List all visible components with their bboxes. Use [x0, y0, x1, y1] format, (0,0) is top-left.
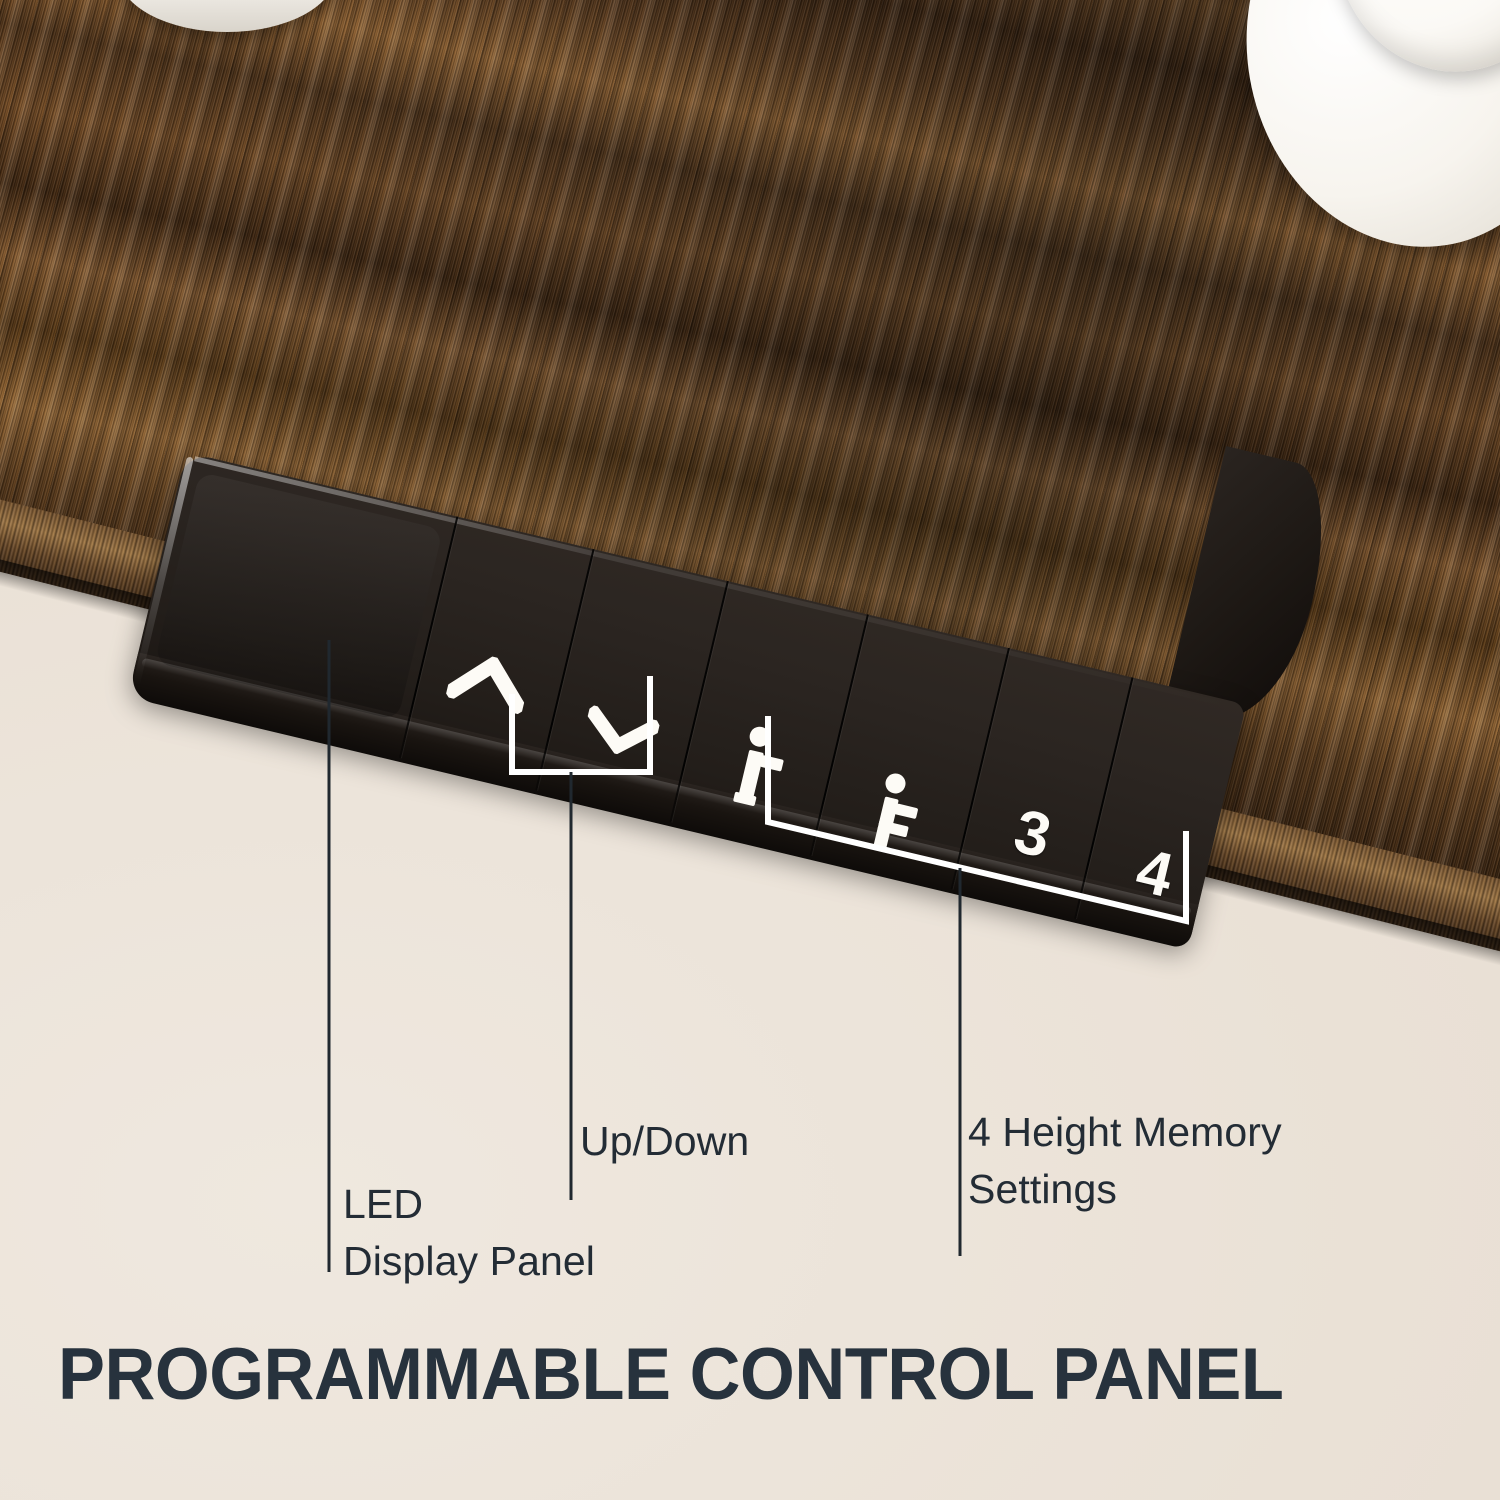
- callout-label-memory: 4 Height Memory Settings: [968, 1104, 1368, 1217]
- leader-bracket-memory: [768, 716, 1186, 921]
- callout-leaders: [0, 0, 1500, 1500]
- callout-label-led: LED Display Panel: [343, 1176, 595, 1289]
- product-scene: 3 4 LED Display Panel Up/Down 4 Height M…: [0, 0, 1500, 1500]
- callout-label-updown: Up/Down: [580, 1113, 749, 1170]
- page-headline: PROGRAMMABLE CONTROL PANEL: [58, 1338, 1283, 1411]
- leader-bracket-updown: [512, 676, 650, 772]
